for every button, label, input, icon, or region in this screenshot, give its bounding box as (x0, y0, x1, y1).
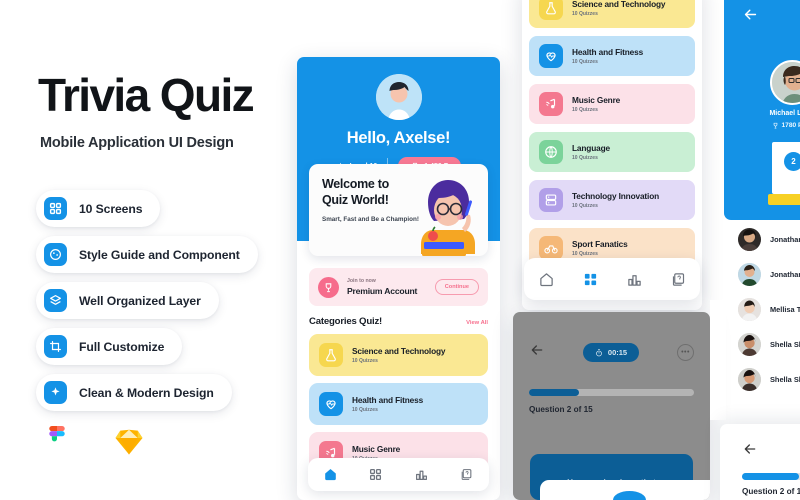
category-card-health[interactable]: Health and Fitness 10 Quizzes (309, 383, 488, 425)
category-sub: 10 Quizzes (352, 407, 423, 413)
page-subtitle: Mobile Application UI Design (40, 135, 234, 151)
premium-text-block: Join to now Premium Account (347, 278, 417, 296)
globe-icon (539, 140, 563, 164)
list-item-name: Jonathan (770, 270, 800, 279)
category-name: Music Genre (352, 444, 400, 454)
sheet-accent (613, 491, 646, 500)
category-card-technology[interactable]: Technology Innovation 10 Quizzes (529, 180, 695, 220)
feature-label: Clean & Modern Design (79, 386, 214, 400)
category-sub: 10 Quizzes (572, 11, 665, 17)
list-item-name: Shella Sh (770, 340, 800, 349)
featured-avatar[interactable] (770, 60, 800, 105)
timer-badge: 00:15 (583, 343, 639, 362)
quiz-progress-bar (529, 389, 694, 396)
avatar (738, 228, 761, 251)
palette-icon (44, 243, 67, 266)
rank-number: 2 (784, 152, 800, 171)
category-card-science[interactable]: Science and Technology 10 Quizzes (529, 0, 695, 28)
continue-button[interactable]: Continue (435, 279, 479, 295)
feature-list: 10 Screens Style Guide and Component Wel… (36, 190, 286, 420)
trophy-icon (772, 122, 779, 129)
quiz-progress-bar (742, 473, 800, 480)
phone-quiz-screen-2: Question 2 of 15 (720, 424, 800, 500)
premium-eyebrow: Join to now (347, 278, 417, 284)
leaderboard-list: Jonathan Jonathan Mellisa To Shella Sh S… (724, 222, 800, 397)
category-card-health[interactable]: Health and Fitness 10 Quizzes (529, 36, 695, 76)
feature-item-screens: 10 Screens (36, 190, 160, 227)
sparkle-icon (44, 381, 67, 404)
bicycle-icon (539, 236, 563, 260)
category-text: Language 10 Quizzes (572, 143, 610, 161)
category-name: Technology Innovation (572, 191, 659, 201)
list-item[interactable]: Shella Sh (724, 362, 800, 397)
feature-item-customize: Full Customize (36, 328, 182, 365)
feature-label: Well Organized Layer (79, 294, 201, 308)
category-sub: 10 Quizzes (572, 155, 610, 161)
welcome-card: Welcome to Quiz World! Smart, Fast and B… (309, 164, 488, 256)
avatar (738, 263, 761, 286)
spacer (710, 300, 726, 420)
avatar[interactable] (376, 74, 422, 120)
feature-label: Style Guide and Component (79, 248, 240, 262)
question-label: Question 2 of 15 (529, 405, 710, 414)
page-title: Trivia Quiz (38, 72, 253, 118)
list-item-name: Shella Sh (770, 375, 800, 384)
list-item[interactable]: Shella Sh (724, 327, 800, 362)
timer-text: 00:15 (608, 348, 627, 357)
list-item[interactable]: Jonathan (724, 222, 800, 257)
tool-logos (40, 425, 146, 459)
featured-points-text: 1780 Point (782, 122, 800, 129)
nav-quizzes-icon[interactable] (671, 272, 686, 287)
category-text: Science and Technology 10 Quizzes (352, 346, 445, 364)
phone-leaderboard-screen: Michael Lewis 1780 Point 2 (724, 0, 800, 220)
flask-icon (319, 343, 343, 367)
category-sub: 10 Quizzes (572, 59, 643, 65)
quiz-toolbar: 00:15 ••• (513, 312, 710, 363)
music-note-icon (539, 92, 563, 116)
categories-title: Categories Quiz! (309, 316, 382, 327)
categories-header: Categories Quiz! View All (309, 316, 488, 327)
arrow-left-icon[interactable] (742, 6, 759, 28)
category-name: Health and Fitness (352, 395, 423, 405)
feature-item-modern-design: Clean & Modern Design (36, 374, 232, 411)
view-all-link[interactable]: View All (466, 320, 488, 326)
phone-quiz-screen: 00:15 ••• Question 2 of 15 How much valu… (513, 312, 710, 500)
list-item-name: Jonathan (770, 235, 800, 244)
feature-item-style-guide: Style Guide and Component (36, 236, 258, 273)
feature-label: Full Customize (79, 340, 164, 354)
premium-account-card[interactable]: Join to now Premium Account Continue (309, 268, 488, 306)
sketch-logo (112, 425, 146, 459)
avatar (738, 298, 761, 321)
category-sub: 10 Quizzes (572, 251, 628, 257)
feature-item-layers: Well Organized Layer (36, 282, 219, 319)
nav-leaderboard-icon[interactable] (627, 272, 642, 287)
podium-base (768, 194, 800, 205)
more-dots-icon[interactable]: ••• (677, 344, 694, 361)
category-card-language[interactable]: Language 10 Quizzes (529, 132, 695, 172)
category-name: Music Genre (572, 95, 620, 105)
arrow-left-icon[interactable] (742, 441, 758, 462)
poster-canvas: Trivia Quiz Mobile Application UI Design… (0, 0, 800, 500)
home-bottom-nav (308, 458, 489, 491)
category-sub: 10 Quizzes (352, 358, 445, 364)
list-item[interactable]: Mellisa To (724, 292, 800, 327)
layers-icon (44, 289, 67, 312)
featured-name: Michael Lewis (758, 110, 800, 117)
category-sub: 10 Quizzes (572, 203, 659, 209)
nav-quizzes-icon[interactable] (460, 468, 473, 481)
category-name: Language (572, 143, 610, 153)
list-item[interactable]: Jonathan (724, 257, 800, 292)
featured-points: 1780 Point (758, 122, 800, 129)
category-card-music[interactable]: Music Genre 10 Quizzes (529, 84, 695, 124)
phone-home-screen: Hello, Axelse! Level 10 1,450 P Welcome … (297, 57, 500, 500)
quiz-progress-fill (529, 389, 579, 396)
category-name: Sport Fanatics (572, 239, 628, 249)
nav-categories-icon[interactable] (369, 468, 382, 481)
grid-icon (44, 197, 67, 220)
category-text: Health and Fitness 10 Quizzes (572, 47, 643, 65)
nav-home-icon[interactable] (539, 272, 554, 287)
heart-pulse-icon (539, 44, 563, 68)
nav-categories-icon[interactable] (583, 272, 598, 287)
category-name: Science and Technology (352, 346, 445, 356)
question-label: Question 2 of 15 (742, 487, 800, 496)
category-name: Science and Technology (572, 0, 665, 9)
category-text: Music Genre 10 Quizzes (572, 95, 620, 113)
avatar (738, 368, 761, 391)
nav-home-icon[interactable] (324, 468, 337, 481)
student-illustration (400, 172, 488, 256)
stopwatch-icon (595, 349, 603, 357)
premium-title: Premium Account (347, 286, 417, 296)
quiz-progress-fill (742, 473, 799, 480)
premium-trophy-icon (318, 277, 339, 298)
left-info-panel: Trivia Quiz Mobile Application UI Design… (0, 0, 292, 500)
category-text: Technology Innovation 10 Quizzes (572, 191, 659, 209)
avatar (738, 333, 761, 356)
greeting-text: Hello, Axelse! (297, 129, 500, 148)
flask-icon (539, 0, 563, 20)
category-card-science[interactable]: Science and Technology 10 Quizzes (309, 334, 488, 376)
category-name: Health and Fitness (572, 47, 643, 57)
category-sub: 10 Quizzes (572, 107, 620, 113)
arrow-left-icon[interactable] (529, 342, 545, 363)
category-text: Science and Technology 10 Quizzes (572, 0, 665, 17)
categories-bottom-nav (524, 258, 700, 300)
podium-block: 2 (772, 142, 800, 194)
list-item-name: Mellisa To (770, 305, 800, 314)
figma-logo (40, 425, 74, 459)
server-icon (539, 188, 563, 212)
category-text: Health and Fitness 10 Quizzes (352, 395, 423, 413)
nav-leaderboard-icon[interactable] (415, 468, 428, 481)
bottom-sheet (540, 480, 710, 500)
feature-label: 10 Screens (79, 202, 142, 216)
heart-pulse-icon (319, 392, 343, 416)
category-text: Sport Fanatics 10 Quizzes (572, 239, 628, 257)
crop-icon (44, 335, 67, 358)
